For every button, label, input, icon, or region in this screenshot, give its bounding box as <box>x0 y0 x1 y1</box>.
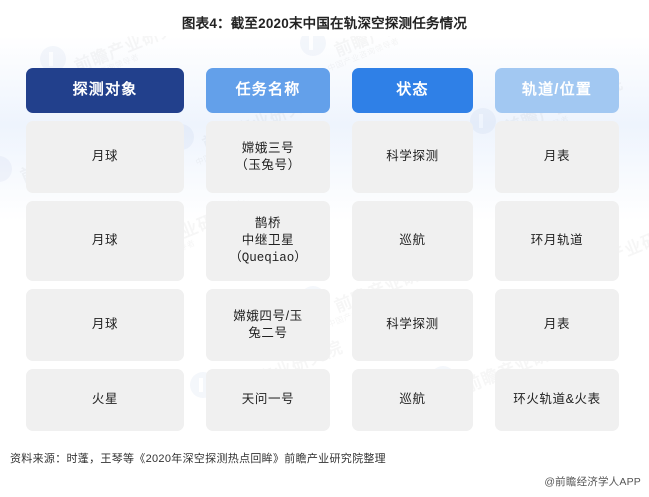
cell-status: 科学探测 <box>352 121 473 193</box>
cell-mission-line: 嫦娥四号/玉 <box>233 308 303 325</box>
cell-mission: 鹊桥 中继卫星 （Queqiao） <box>206 201 330 281</box>
cell-status: 科学探测 <box>352 289 473 361</box>
app-credit: @前瞻经济学人APP <box>544 474 641 489</box>
figure-panel: 前瞻产业研究院 中国产业咨询领导者 前瞻产业研究院 中国产业咨询领导者 前瞻产业… <box>0 36 649 440</box>
cell-orbit: 环月轨道 <box>495 201 619 281</box>
table-row: 火星 天问一号 巡航 环火轨道&火表 <box>26 369 623 431</box>
cell-mission-line: 鹊桥 <box>229 215 307 232</box>
deep-space-missions-table: 探测对象 任务名称 状态 轨道/位置 月球 嫦娥三号 （玉兔号） 科学探测 月表… <box>26 68 623 431</box>
cell-mission-line: （玉兔号） <box>235 157 301 174</box>
cell-orbit: 环火轨道&火表 <box>495 369 619 431</box>
column-header-status[interactable]: 状态 <box>352 68 473 113</box>
source-note: 资料来源：时蓬，王琴等《2020年深空探测热点回眸》前瞻产业研究院整理 <box>10 450 386 466</box>
column-header-target[interactable]: 探测对象 <box>26 68 184 113</box>
watermark-brand-text: 前瞻产业研究院 <box>330 36 456 61</box>
cell-status: 巡航 <box>352 201 473 281</box>
page-title: 图表4：截至2020末中国在轨深空探测任务情况 <box>0 12 649 32</box>
cell-mission: 天问一号 <box>206 369 330 431</box>
table-row: 月球 嫦娥三号 （玉兔号） 科学探测 月表 <box>26 121 623 193</box>
watermark-logo-icon <box>300 36 326 56</box>
cell-status: 巡航 <box>352 369 473 431</box>
column-header-mission[interactable]: 任务名称 <box>206 68 330 113</box>
cell-mission: 嫦娥四号/玉 兔二号 <box>206 289 330 361</box>
cell-mission-line: 中继卫星 <box>229 232 307 249</box>
cell-mission: 嫦娥三号 （玉兔号） <box>206 121 330 193</box>
watermark-logo-icon <box>0 156 12 182</box>
cell-orbit: 月表 <box>495 121 619 193</box>
cell-target: 月球 <box>26 289 184 361</box>
cell-orbit: 月表 <box>495 289 619 361</box>
table-header-row: 探测对象 任务名称 状态 轨道/位置 <box>26 68 623 113</box>
cell-mission-line: 兔二号 <box>233 325 303 342</box>
table-row: 月球 嫦娥四号/玉 兔二号 科学探测 月表 <box>26 289 623 361</box>
column-header-orbit[interactable]: 轨道/位置 <box>495 68 619 113</box>
cell-mission-line: （Queqiao） <box>229 250 307 267</box>
table-row: 月球 鹊桥 中继卫星 （Queqiao） 巡航 环月轨道 <box>26 201 623 281</box>
cell-target: 月球 <box>26 121 184 193</box>
cell-mission-line: 嫦娥三号 <box>235 140 301 157</box>
cell-target: 月球 <box>26 201 184 281</box>
cell-target: 火星 <box>26 369 184 431</box>
